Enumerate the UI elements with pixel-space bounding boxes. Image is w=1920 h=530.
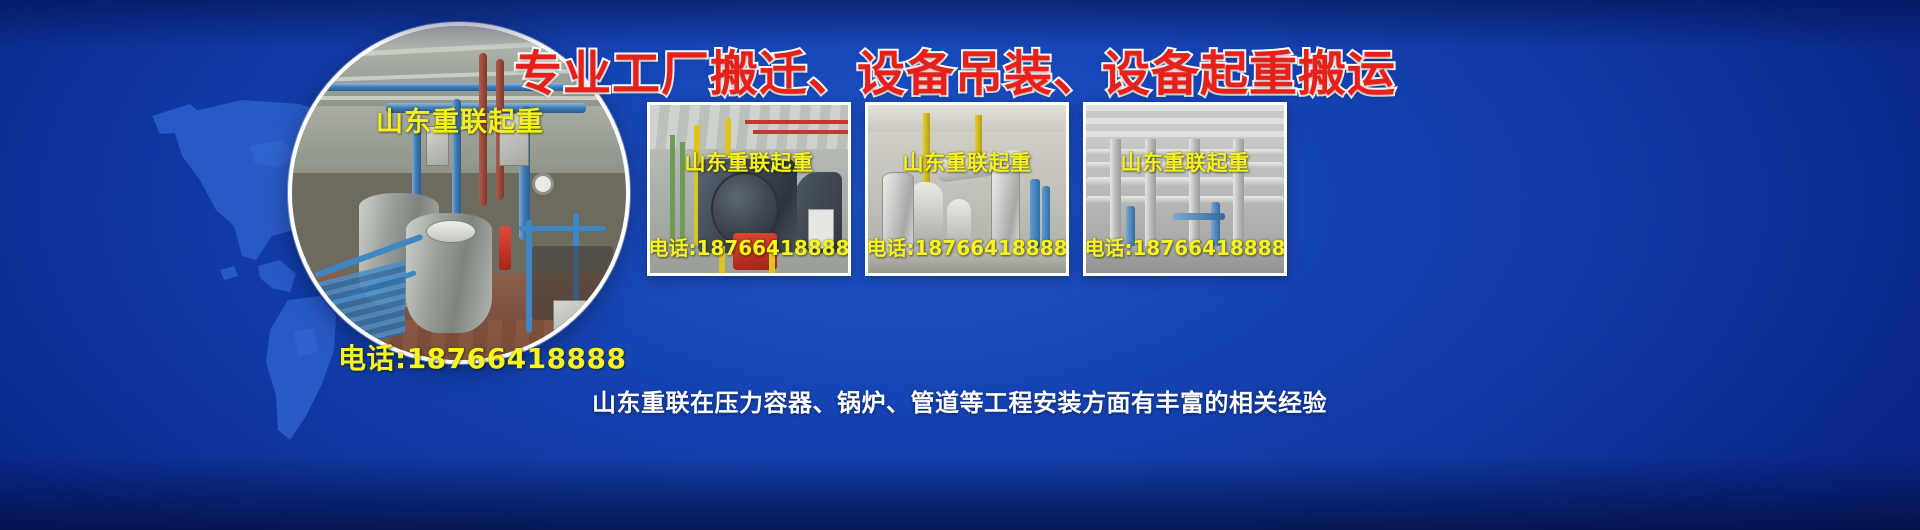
thumbnail-strip: 山东重联起重 电话:18766418888 山东重联起重 电话:18766418… [647, 102, 1287, 276]
thumbnail-2-watermark: 山东重联起重 [903, 147, 1032, 177]
page-title: 专业工厂搬迁、设备吊装、设备起重搬运 [514, 34, 1396, 104]
main-photo-phone: 电话:18766418888 [338, 337, 627, 377]
thumbnail-2-phone: 电话:18766418888 [866, 232, 1067, 261]
main-photo-watermark: 山东重联起重 [376, 100, 544, 139]
promo-banner: 山东重联起重 电话:18766418888 专业工厂搬迁、设备吊装、设备起重搬运 [0, 0, 1920, 530]
thumbnail-1-watermark: 山东重联起重 [685, 147, 814, 177]
thumbnail-3-phone: 电话:18766418888 [1084, 232, 1285, 261]
thumbnail-photo-1[interactable]: 山东重联起重 电话:18766418888 [647, 102, 851, 276]
thumbnail-3-watermark: 山东重联起重 [1121, 147, 1250, 177]
thumbnail-photo-2[interactable]: 山东重联起重 电话:18766418888 [865, 102, 1069, 276]
thumbnail-1-phone: 电话:18766418888 [648, 232, 849, 261]
banner-caption: 山东重联在压力容器、锅炉、管道等工程安装方面有丰富的相关经验 [592, 383, 1327, 418]
thumbnail-photo-3[interactable]: 山东重联起重 电话:18766418888 [1083, 102, 1287, 276]
